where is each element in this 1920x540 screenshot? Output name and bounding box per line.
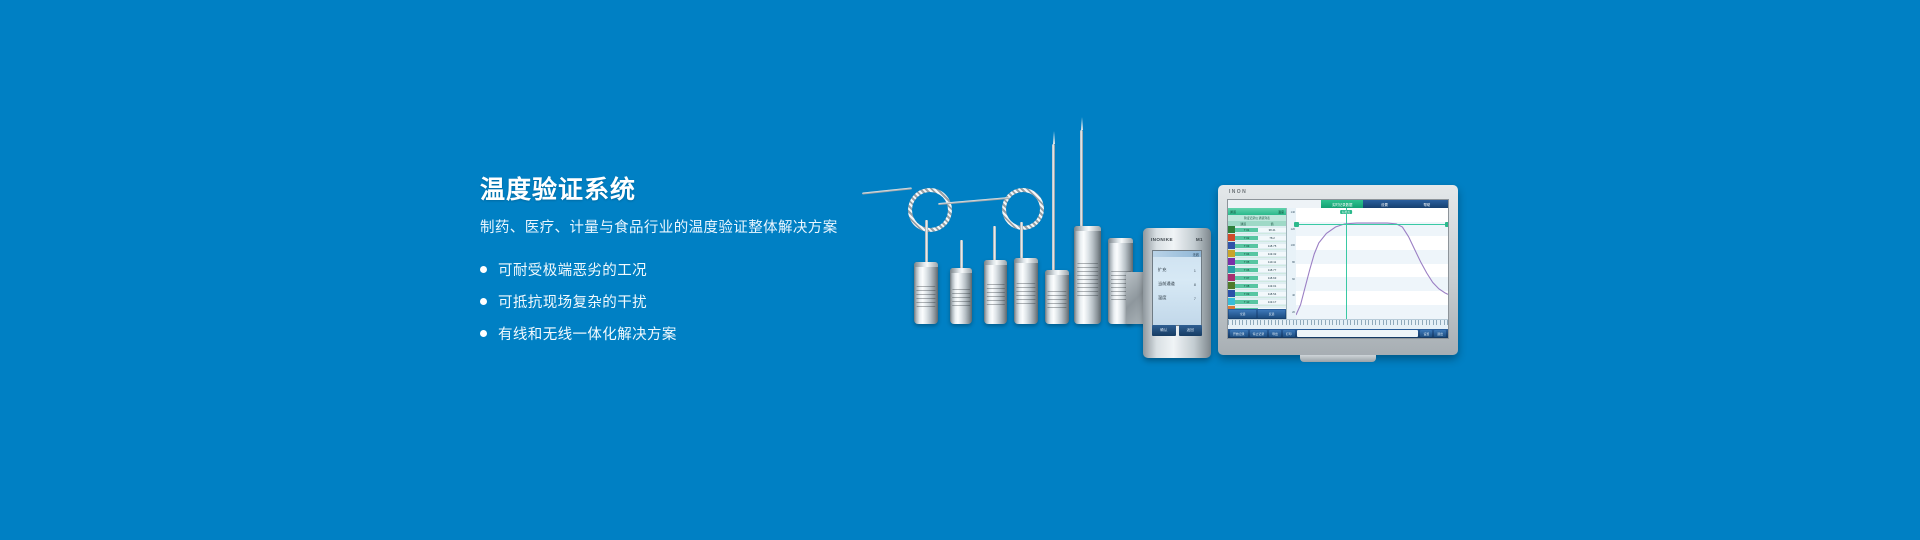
readout-label: 当前通道 (1158, 281, 1175, 287)
channel-value: 118.54 (1258, 292, 1286, 296)
series-color-swatch (1228, 298, 1235, 305)
table-row[interactable]: T 04119.32 (1228, 250, 1286, 258)
chart-canvas[interactable]: 标准点 (1296, 208, 1448, 319)
logger-label (952, 289, 970, 308)
series-color-swatch (1228, 234, 1235, 241)
handheld-brand-row: INONIKE M1 (1143, 237, 1211, 242)
data-logger-body (984, 260, 1007, 324)
logger-label (916, 286, 935, 307)
handheld-confirm-button[interactable]: 确认 (1152, 325, 1176, 336)
table-row[interactable]: T 07118.63 (1228, 274, 1286, 282)
channel-value: 118.75 (1258, 244, 1286, 248)
app-body: 通道 温度 验证记录仪 通道列表 通道 值 T 0138.41T 0278.2T… (1228, 208, 1448, 319)
feature-label: 可抵抗现场复杂的干扰 (498, 291, 647, 312)
channel-header-label: 通道 (1230, 210, 1236, 214)
handheld-screen: 无线 扩充 1 当前通道 8 温度 7 (1152, 250, 1202, 326)
readout-label: 扩充 (1158, 267, 1166, 273)
table-row[interactable]: T 08119.01 (1228, 282, 1286, 290)
handheld-brand: INONIKE (1151, 237, 1173, 242)
series-color-swatch (1228, 282, 1235, 289)
handheld-keypad: 确认 返回 (1152, 325, 1202, 336)
channel-name: T 09 (1235, 292, 1258, 296)
stop-record-button[interactable]: 停止记录 (1250, 330, 1268, 337)
channel-value: 38.41 (1258, 228, 1286, 232)
series-color-swatch (1228, 274, 1235, 281)
bullet-dot-icon (480, 298, 487, 305)
axis-tick-label: 40 (1292, 294, 1295, 297)
channel-value: 119.17 (1258, 300, 1286, 304)
channel-name: T 07 (1235, 276, 1258, 280)
channel-name: T 03 (1235, 244, 1258, 248)
channel-name: T 01 (1235, 228, 1258, 232)
data-logger-body (1074, 226, 1101, 324)
channel-name: T 08 (1235, 284, 1258, 288)
table-row[interactable]: T 06118.77 (1228, 266, 1286, 274)
needle-probe-icon (1052, 144, 1055, 274)
channel-name: T 06 (1235, 268, 1258, 272)
readout-label: 温度 (1158, 295, 1166, 301)
cursor-label: 标准点 (1340, 210, 1352, 214)
monitor-brand: INON (1229, 189, 1247, 195)
channel-name: T 05 (1235, 260, 1258, 264)
exit-button[interactable]: 退出 (1434, 330, 1446, 337)
data-logger-body (1045, 270, 1069, 324)
table-row[interactable]: T 0278.2 (1228, 234, 1286, 242)
channel-list-header: 通道 温度 (1228, 208, 1286, 215)
monitor-stand (1300, 355, 1376, 362)
app-tabbar: 实时记录数据 设置 帮助 (1228, 200, 1448, 208)
series-color-swatch (1228, 226, 1235, 233)
setpoint-handle-left[interactable] (1294, 222, 1299, 227)
axis-tick-label: 80 (1292, 261, 1295, 264)
chart-area: 14012010080604020 标准点 (1287, 208, 1448, 319)
series-color-swatch (1228, 258, 1235, 265)
channel-value: 119.11 (1258, 260, 1286, 264)
bullet-dot-icon (480, 266, 487, 273)
list-item: 温度 7 (1158, 295, 1196, 301)
series-color-swatch (1228, 242, 1235, 249)
readout-value: 1 (1194, 268, 1196, 273)
axis-tick (1447, 320, 1448, 325)
axis-tick-label: 100 (1291, 244, 1295, 247)
handheld-terminal[interactable]: INONIKE M1 无线 扩充 1 当前通道 8 温度 7 (1143, 228, 1211, 358)
column-value: 值 (1271, 222, 1274, 226)
table-row[interactable]: T 09118.54 (1228, 290, 1286, 298)
axis-tick-label: 20 (1292, 311, 1295, 314)
handheld-model: M1 (1196, 237, 1203, 242)
cursor-line (1346, 208, 1347, 319)
temp-header-label: 温度 (1278, 210, 1284, 214)
axis-tick-label: 60 (1292, 278, 1295, 281)
feature-label: 有线和无线一体化解决方案 (498, 323, 677, 344)
channel-value: 118.63 (1258, 276, 1286, 280)
axis-tick-label: 140 (1291, 211, 1295, 214)
handheld-titlebar-label: 无线 (1193, 252, 1199, 257)
channel-list-footer: 全选 反选 (1228, 309, 1286, 319)
monitor-screen: 实时记录数据 设置 帮助 通道 温度 验证记录仪 通道列表 通道 值 T 0 (1227, 199, 1449, 339)
setpoint-handle-right[interactable] (1445, 222, 1449, 227)
tabbar-spacer (1228, 200, 1321, 208)
coiled-probe-icon (1002, 188, 1044, 230)
data-logger-body (914, 262, 938, 324)
channel-value: 78.2 (1258, 236, 1286, 240)
invert-selection-button[interactable]: 反选 (1258, 310, 1285, 318)
settings-button[interactable]: 设置 (1420, 330, 1432, 337)
column-channel: 通道 (1240, 222, 1246, 226)
channel-rows[interactable]: T 0138.41T 0278.2T 03118.75T 04119.32T 0… (1228, 226, 1286, 309)
series-color-swatch (1228, 266, 1235, 273)
series-color-swatch (1228, 290, 1235, 297)
channel-name: T 04 (1235, 252, 1258, 256)
select-all-button[interactable]: 全选 (1229, 310, 1256, 318)
channel-value: 118.77 (1258, 268, 1286, 272)
tab-help[interactable]: 帮助 (1406, 200, 1448, 208)
probe-stem (925, 220, 928, 264)
logger-label (1047, 291, 1066, 309)
export-button[interactable]: 导出 (1269, 330, 1281, 337)
list-item: 扩充 1 (1158, 267, 1196, 273)
tab-realtime[interactable]: 实时记录数据 (1321, 200, 1363, 208)
table-row[interactable]: T 0138.41 (1228, 226, 1286, 234)
handheld-readout-list: 扩充 1 当前通道 8 温度 7 (1153, 257, 1201, 301)
bullet-dot-icon (480, 330, 487, 337)
readout-value: 7 (1194, 296, 1196, 301)
monitor-device: INON 实时记录数据 设置 帮助 通道 温度 验证记录仪 通道列表 通道 (1218, 185, 1458, 355)
hero-banner: 温度验证系统 制药、医疗、计量与食品行业的温度验证整体解决方案 可耐受极端恶劣的… (0, 0, 1920, 540)
data-logger-body (1014, 258, 1038, 324)
channel-name: T 10 (1235, 300, 1258, 304)
setpoint-line (1296, 224, 1448, 225)
tab-settings[interactable]: 设置 (1363, 200, 1405, 208)
probe-stem (960, 240, 963, 270)
start-record-button[interactable]: 开始记录 (1230, 330, 1248, 337)
channel-list-panel: 通道 温度 验证记录仪 通道列表 通道 值 T 0138.41T 0278.2T… (1228, 208, 1287, 319)
channel-value: 119.01 (1258, 284, 1286, 288)
table-row[interactable]: T 05119.11 (1228, 258, 1286, 266)
list-item: 当前通道 8 (1158, 281, 1196, 287)
table-row[interactable]: T 03118.75 (1228, 242, 1286, 250)
axis-tick-label: 120 (1291, 228, 1295, 231)
readout-value: 8 (1194, 282, 1196, 287)
chart-x-axis (1228, 319, 1448, 329)
channel-value: 119.32 (1258, 252, 1286, 256)
probe-stem (1020, 222, 1023, 262)
probe-stem (993, 226, 996, 264)
handheld-back-button[interactable]: 返回 (1179, 325, 1203, 336)
data-logger-body (950, 268, 972, 324)
series-color-swatch (1228, 250, 1235, 257)
logger-label (986, 284, 1004, 306)
app-toolbar: 开始记录 停止记录 导出 打印 设置 退出 (1228, 329, 1448, 338)
logger-label (1016, 283, 1035, 305)
print-button[interactable]: 打印 (1283, 330, 1295, 337)
toolbar-spacer (1297, 330, 1419, 337)
logger-label (1077, 263, 1099, 296)
channel-name: T 02 (1235, 236, 1258, 240)
coiled-probe-icon (908, 188, 952, 232)
feature-label: 可耐受极端恶劣的工况 (498, 259, 647, 280)
table-row[interactable]: T 10119.17 (1228, 298, 1286, 306)
